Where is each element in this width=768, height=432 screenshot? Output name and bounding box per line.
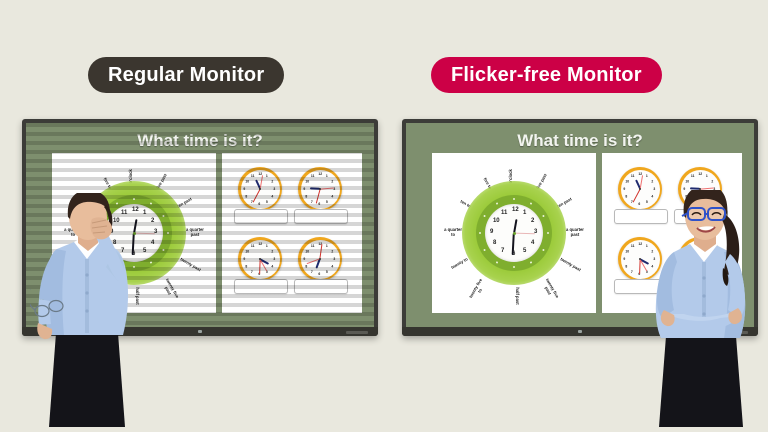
small-clock-hour-number: 8 <box>245 264 247 268</box>
small-clock-face: 121234567891011 <box>241 240 280 279</box>
big-clock-hour-number: 10 <box>493 218 500 224</box>
ring-tick <box>547 232 549 234</box>
ring-tick <box>496 202 499 205</box>
ring-tick <box>530 261 533 264</box>
big-clock-time-phrase: half past <box>514 287 519 304</box>
badge-flicker-free-monitor: Flicker-free Monitor <box>431 57 662 93</box>
small-clock-second-hand <box>320 187 334 189</box>
answer-input-box[interactable] <box>234 279 288 294</box>
small-clock-hour-number: 2 <box>331 179 333 183</box>
small-clock-hour-number: 6 <box>258 202 260 206</box>
big-clock-time-phrase: twenty five to <box>469 278 488 302</box>
small-clock-hour-number: 10 <box>685 179 689 183</box>
big-clock-time-phrase: twenty past <box>179 257 201 273</box>
small-clock-hour-number: 12 <box>318 172 322 176</box>
ring-tick <box>150 261 153 264</box>
big-clock-hour-number: 2 <box>531 218 534 224</box>
big-clock-hour-number: 4 <box>531 240 534 246</box>
small-clock-hour-number: 5 <box>266 200 268 204</box>
badge-regular-monitor: Regular Monitor <box>88 57 284 93</box>
ring-tick <box>167 232 169 234</box>
small-clock-hour-number: 2 <box>271 249 273 253</box>
small-clock: 121234567891011 <box>238 167 282 211</box>
small-clock-hour-number: 8 <box>625 194 627 198</box>
small-clock-center-pin <box>319 258 321 260</box>
small-clock-hour-number: 10 <box>305 179 309 183</box>
big-clock-hour-number: 2 <box>151 218 154 224</box>
small-clock-hour-number: 9 <box>243 257 245 261</box>
big-clock-time-phrase: twenty five past <box>160 278 179 302</box>
small-clock-hour-number: 2 <box>271 179 273 183</box>
person-tired-woman <box>30 193 142 427</box>
small-clock-hour-number: 10 <box>625 179 629 183</box>
ring-tick <box>496 261 499 264</box>
small-clock-hour-number: 4 <box>331 194 333 198</box>
screen-title-left: What time is it? <box>26 131 374 151</box>
small-clock-hour-number: 6 <box>318 272 320 276</box>
small-clock-hour-number: 11 <box>311 174 315 178</box>
small-clock-hour-number: 3 <box>273 187 275 191</box>
ring-tick <box>479 232 481 234</box>
brand-logo <box>346 331 368 334</box>
small-clock-hour-number: 6 <box>318 202 320 206</box>
small-clock-hour-number: 11 <box>251 244 255 248</box>
small-clock-second-hand <box>640 175 643 189</box>
ring-tick <box>542 215 545 218</box>
small-clock-hour-number: 8 <box>245 194 247 198</box>
small-clock-hour-number: 7 <box>311 200 313 204</box>
ring-tick <box>530 202 533 205</box>
small-clock-hour-number: 11 <box>691 174 695 178</box>
ring-tick <box>513 266 515 268</box>
small-clock-hour-number: 7 <box>251 270 253 274</box>
small-clock: 121234567891011 <box>238 237 282 281</box>
answer-input-box[interactable] <box>294 279 348 294</box>
ring-tick <box>483 249 486 252</box>
small-clock-face: 121234567891011 <box>301 240 340 279</box>
big-clock-time-phrase: a quarter past <box>566 228 584 238</box>
small-clock-hour-number: 12 <box>638 242 642 246</box>
small-clock-hour-number: 2 <box>651 179 653 183</box>
small-clock-hour-number: 11 <box>631 174 635 178</box>
small-clock-hour-number: 4 <box>271 264 273 268</box>
big-clock-face: 121234567891011 <box>485 204 543 262</box>
ring-tick <box>150 202 153 205</box>
big-clock-center-pin <box>513 232 516 235</box>
big-clock-hour-number: 8 <box>493 240 496 246</box>
worksheet-panel-bigclock-right: o'clockfive pastten pasta quarter pasttw… <box>432 153 596 313</box>
small-clock-hour-number: 11 <box>631 244 635 248</box>
small-clock-hour-number: 10 <box>305 249 309 253</box>
small-clock-center-pin <box>319 188 321 190</box>
small-clock-second-hand <box>260 175 263 189</box>
small-clock-hour-number: 12 <box>258 242 262 246</box>
small-clock: 121234567891011 <box>298 167 342 211</box>
person-happy-woman <box>644 190 764 427</box>
small-clock-hour-number: 3 <box>273 257 275 261</box>
small-clock-hour-number: 11 <box>311 244 315 248</box>
small-clock-hour-number: 1 <box>266 244 268 248</box>
big-clock-second-hand <box>514 233 535 235</box>
small-clock-hour-number: 10 <box>625 249 629 253</box>
small-clock-hour-number: 7 <box>311 270 313 274</box>
answer-input-box[interactable] <box>234 209 288 224</box>
small-clock-hour-number: 4 <box>271 194 273 198</box>
small-clock-hour-number: 9 <box>243 187 245 191</box>
happy-woman-illustration <box>644 190 764 427</box>
big-clock-time-phrase: a quarter to <box>444 228 462 238</box>
small-clock-hour-number: 9 <box>623 257 625 261</box>
small-clock-face: 121234567891011 <box>241 170 280 209</box>
small-clock-minute-hand <box>252 189 260 203</box>
big-clock-hour-number: 7 <box>501 248 504 254</box>
small-clock-hour-number: 9 <box>303 187 305 191</box>
small-clock-hour-number: 8 <box>625 264 627 268</box>
ring-tick <box>162 249 165 252</box>
big-clock-hour-number: 9 <box>490 229 493 235</box>
small-clock-hour-number: 1 <box>326 244 328 248</box>
small-clock-hour-number: 2 <box>711 179 713 183</box>
small-clock-hour-number: 4 <box>331 264 333 268</box>
small-clock-hour-number: 9 <box>303 257 305 261</box>
big-clock-hour-number: 11 <box>501 210 507 216</box>
big-clock-right: o'clockfive pastten pasta quarter pasttw… <box>439 158 589 308</box>
small-clock-hour-number: 3 <box>333 257 335 261</box>
ring-tick <box>162 215 165 218</box>
small-clock-center-pin <box>639 258 641 260</box>
small-clock-center-pin <box>259 258 261 260</box>
small-clock-hour-number: 1 <box>266 174 268 178</box>
power-led-icon <box>578 330 582 333</box>
big-clock-hour-number: 1 <box>523 210 526 216</box>
big-clock-hour-number: 5 <box>143 248 146 254</box>
big-clock-time-phrase: twenty to <box>451 257 469 270</box>
big-clock-time-phrase: twenty five past <box>540 278 559 302</box>
big-clock-time-phrase: twenty past <box>559 257 581 273</box>
big-clock-hour-number: 1 <box>143 210 146 216</box>
small-clock-hour-number: 11 <box>251 174 255 178</box>
small-clock-hour-number: 10 <box>245 249 249 253</box>
small-clock: 121234567891011 <box>298 237 342 281</box>
worksheet-panel-smallclocks-left: 1212345678910111212345678910111212345678… <box>222 153 362 313</box>
big-clock-time-phrase: a quarter past <box>186 228 204 238</box>
small-clock-hour-number: 8 <box>305 264 307 268</box>
small-clock-hour-number: 1 <box>706 174 708 178</box>
big-clock-hour-number: 4 <box>151 240 154 246</box>
ring-tick <box>542 249 545 252</box>
small-clock-center-pin <box>639 188 641 190</box>
big-clock-hour-number: 5 <box>523 248 526 254</box>
small-clock-hour-number: 1 <box>646 174 648 178</box>
screen-title-right: What time is it? <box>406 131 754 151</box>
comparison-scene: Regular Monitor Flicker-free Monitor Wha… <box>0 0 768 427</box>
small-clock-hour-number: 12 <box>698 172 702 176</box>
small-clock-minute-hand <box>632 189 640 203</box>
small-clock-hour-number: 7 <box>631 270 633 274</box>
big-clock-hour-number: 12 <box>512 207 519 213</box>
ring-tick <box>513 198 515 200</box>
glasses-icon <box>682 208 725 220</box>
small-clock-hour-number: 8 <box>305 194 307 198</box>
ring-tick <box>483 215 486 218</box>
small-clock-hour-number: 6 <box>638 202 640 206</box>
small-clock-hour-number: 5 <box>326 200 328 204</box>
power-led-icon <box>198 330 202 333</box>
tired-woman-illustration <box>30 193 142 427</box>
small-clock-hour-number: 5 <box>326 270 328 274</box>
small-clock-hour-number: 2 <box>331 249 333 253</box>
small-clock-center-pin <box>259 188 261 190</box>
small-clock-minute-hand <box>319 244 322 259</box>
small-clock-hour-number: 9 <box>623 187 625 191</box>
small-clock-hour-number: 10 <box>245 179 249 183</box>
small-clock-hour-number: 1 <box>326 174 328 178</box>
small-clock-face: 121234567891011 <box>301 170 340 209</box>
answer-input-box[interactable] <box>294 209 348 224</box>
